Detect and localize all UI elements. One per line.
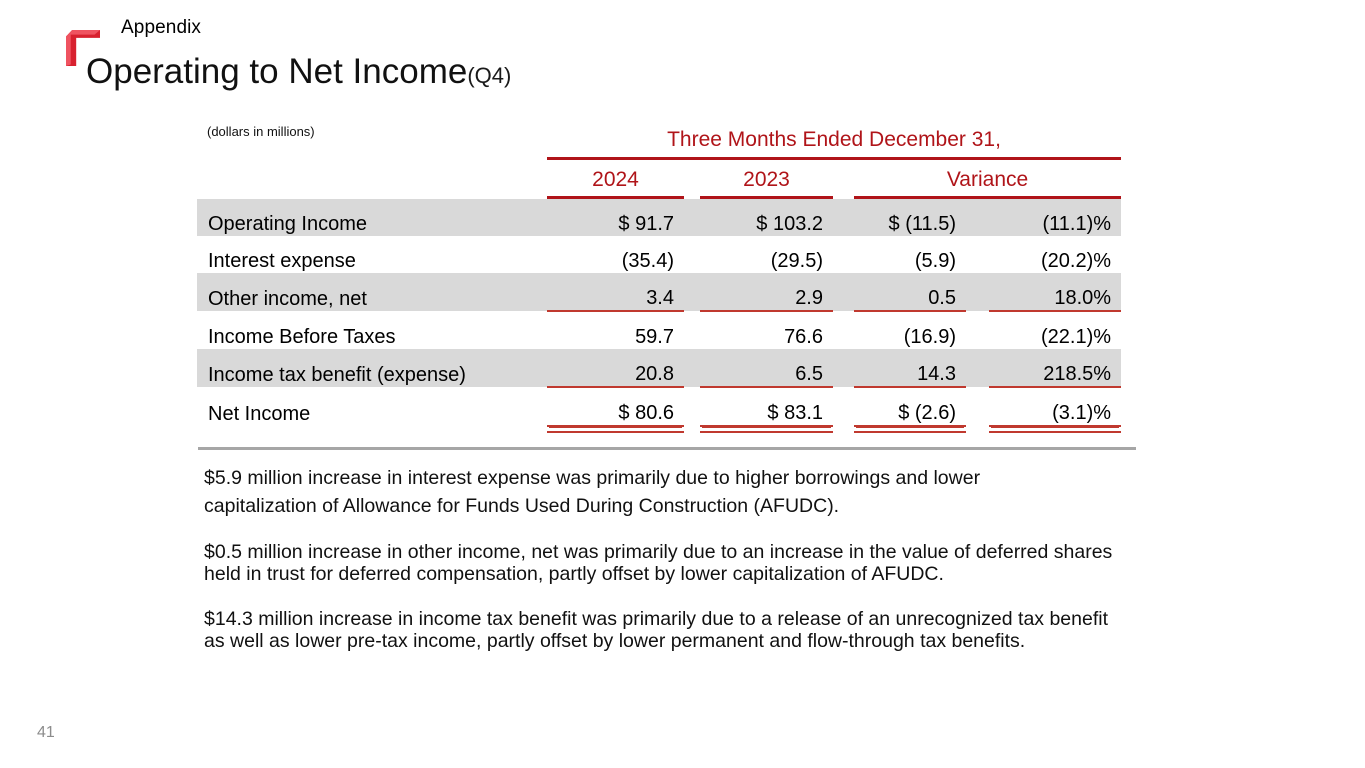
table-row: Other income, net3.42.90.518.0% (197, 273, 1121, 311)
column-gap (966, 236, 989, 273)
column-gap (684, 236, 700, 273)
cell-variance-amount: (5.9) (854, 236, 966, 273)
table-row: Interest expense(35.4)(29.5)(5.9)(20.2)% (197, 236, 1121, 273)
period-header-row: Three Months Ended December 31, (197, 122, 1121, 152)
cell-2024: 20.8 (547, 349, 684, 387)
row-label: Other income, net (197, 273, 547, 311)
cell-2024: $ 91.7 (547, 199, 684, 236)
commentary-note-2: $0.5 million increase in other income, n… (204, 541, 1134, 585)
column-gap (966, 349, 989, 387)
cell-variance-amount: 0.5 (854, 273, 966, 311)
rule-gap-2 (833, 192, 854, 199)
page-number: 41 (37, 724, 55, 742)
page-title: Operating to Net Income(Q4) (86, 51, 511, 97)
cell-variance-amount: $ (2.6) (854, 387, 966, 426)
column-header-row: 2024 2023 Variance (197, 160, 1121, 192)
column-gap (684, 426, 700, 433)
table-head: Three Months Ended December 31, 2024 202… (197, 122, 1121, 199)
cell-2024: 59.7 (547, 311, 684, 349)
column-gap (684, 349, 700, 387)
total-rule-segment (989, 426, 1121, 433)
commentary-note-3: $14.3 million increase in income tax ben… (204, 608, 1134, 652)
column-header-rule-row (197, 192, 1121, 199)
period-header-rule (547, 152, 1121, 160)
section-divider (198, 447, 1136, 450)
column-gap (833, 199, 854, 236)
column-gap (833, 311, 854, 349)
section-eyebrow-label: Appendix (121, 17, 201, 39)
row-label: Interest expense (197, 236, 547, 273)
header-gap-1 (684, 160, 700, 192)
period-header-label: Three Months Ended December 31, (547, 122, 1121, 152)
units-note: (dollars in millions) (207, 124, 315, 139)
total-rule-segment (547, 426, 684, 433)
table-row: Net Income$ 80.6$ 83.1$ (2.6)(3.1)% (197, 387, 1121, 426)
cell-2024: $ 80.6 (547, 387, 684, 426)
cell-variance-percent: (22.1)% (989, 311, 1121, 349)
page-title-main: Operating to Net Income (86, 52, 467, 91)
cell-2023: 6.5 (700, 349, 833, 387)
table-row: Income tax benefit (expense)20.86.514.32… (197, 349, 1121, 387)
rule-spacer-2 (197, 192, 547, 199)
commentary-section: $5.9 million increase in interest expens… (204, 464, 1134, 652)
cell-2024: (35.4) (547, 236, 684, 273)
cell-2023: $ 103.2 (700, 199, 833, 236)
page-title-suffix: (Q4) (467, 63, 511, 88)
rule-variance (854, 192, 1121, 199)
total-double-rule-row (197, 426, 1121, 433)
cell-2024: 3.4 (547, 273, 684, 311)
header-year-2023: 2023 (700, 160, 833, 192)
commentary-note-1: $5.9 million increase in interest expens… (204, 464, 1094, 520)
column-gap (833, 236, 854, 273)
operating-to-net-income-table: Three Months Ended December 31, 2024 202… (197, 122, 1121, 433)
cell-variance-amount: (16.9) (854, 311, 966, 349)
period-header-rule-row (197, 152, 1121, 160)
cell-variance-percent: 18.0% (989, 273, 1121, 311)
slide-header: Appendix Operating to Net Income(Q4) (0, 0, 1365, 108)
column-gap (966, 199, 989, 236)
column-gap (833, 349, 854, 387)
cell-variance-amount: $ (11.5) (854, 199, 966, 236)
table-body: Operating Income$ 91.7$ 103.2$ (11.5)(11… (197, 199, 1121, 433)
column-gap (966, 387, 989, 426)
header-gap-2 (833, 160, 854, 192)
financial-table-container: (dollars in millions) Three Months Ended… (197, 122, 1121, 433)
row-label: Net Income (197, 387, 547, 426)
row-label: Income Before Taxes (197, 311, 547, 349)
column-gap (684, 387, 700, 426)
table-row: Income Before Taxes59.776.6(16.9)(22.1)% (197, 311, 1121, 349)
column-gap (966, 311, 989, 349)
column-gap (833, 273, 854, 311)
row-label: Income tax benefit (expense) (197, 349, 547, 387)
cell-variance-percent: (20.2)% (989, 236, 1121, 273)
column-gap (684, 311, 700, 349)
rule-2023 (700, 192, 833, 199)
column-gap (966, 273, 989, 311)
cell-variance-percent: 218.5% (989, 349, 1121, 387)
row-label: Operating Income (197, 199, 547, 236)
column-gap (966, 426, 989, 433)
column-header-spacer (197, 160, 547, 192)
total-rule-segment (854, 426, 966, 433)
cell-2023: (29.5) (700, 236, 833, 273)
column-gap (833, 426, 854, 433)
total-rule-segment (700, 426, 833, 433)
cell-2023: $ 83.1 (700, 387, 833, 426)
rule-spacer (197, 152, 547, 160)
rule-spacer-3 (197, 426, 547, 433)
cell-variance-percent: (11.1)% (989, 199, 1121, 236)
cell-variance-amount: 14.3 (854, 349, 966, 387)
rule-2024 (547, 192, 684, 199)
table-row: Operating Income$ 91.7$ 103.2$ (11.5)(11… (197, 199, 1121, 236)
column-gap (684, 273, 700, 311)
header-year-2024: 2024 (547, 160, 684, 192)
column-gap (684, 199, 700, 236)
rule-gap-1 (684, 192, 700, 199)
header-variance: Variance (854, 160, 1121, 192)
column-gap (833, 387, 854, 426)
cell-2023: 2.9 (700, 273, 833, 311)
cell-2023: 76.6 (700, 311, 833, 349)
cell-variance-percent: (3.1)% (989, 387, 1121, 426)
